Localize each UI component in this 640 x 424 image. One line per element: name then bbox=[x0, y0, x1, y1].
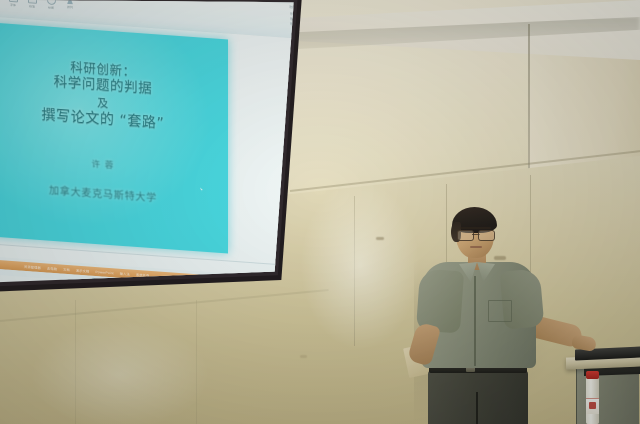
slide-title: 科研创新： 科学问题的判据 及 撰写论文的 “套路” bbox=[0, 52, 228, 138]
presenter bbox=[404, 196, 640, 424]
slide-author: 许 蓉 bbox=[0, 150, 228, 180]
taskbar-item[interactable]: 文档 bbox=[63, 267, 70, 272]
glasses-lens-left bbox=[457, 230, 474, 241]
panel-seam bbox=[75, 300, 76, 424]
trouser-leg-split bbox=[476, 392, 478, 424]
taskbar-item[interactable]: PowerPoint bbox=[95, 269, 113, 274]
panel-seam bbox=[354, 196, 355, 346]
paragraph-icon bbox=[28, 0, 37, 4]
slide-affiliation: 加拿大麦克马斯特大学 bbox=[0, 177, 228, 210]
ribbon-group-label: 字体 bbox=[10, 3, 16, 7]
screen-surface: 文件 开始 插入 设计 切换 动画 幻灯片放映 审阅 视图 粘贴 bbox=[0, 0, 302, 292]
wall-scuff bbox=[300, 355, 307, 358]
lecture-photo-scene: 文件 开始 插入 设计 切换 动画 幻灯片放映 审阅 视图 粘贴 bbox=[0, 0, 640, 424]
ribbon-group[interactable]: 排列 bbox=[64, 0, 76, 10]
glasses-icon bbox=[457, 230, 495, 239]
presenter-right-hand bbox=[571, 334, 597, 352]
panel-seam bbox=[196, 300, 197, 424]
wall-scuff bbox=[376, 237, 384, 240]
slide[interactable]: 科研创新： 科学问题的判据 及 撰写论文的 “套路” 许 蓉 加拿大麦克马斯特大… bbox=[0, 22, 228, 254]
projection-screen[interactable]: 文件 开始 插入 设计 切换 动画 幻灯片放映 审阅 视图 粘贴 bbox=[0, 0, 302, 292]
taskbar-item[interactable]: 演示文稿 bbox=[76, 268, 90, 274]
taskbar-item[interactable]: 输入法 bbox=[120, 271, 130, 277]
presenter-trousers bbox=[428, 370, 528, 424]
shirt-placket bbox=[474, 276, 476, 366]
shapes-icon bbox=[47, 0, 56, 5]
ribbon-group-label: 绘图 bbox=[48, 6, 54, 10]
tray-icon[interactable] bbox=[180, 284, 183, 287]
slide-canvas-area: 科研创新： 科学问题的判据 及 撰写论文的 “套路” 许 蓉 加拿大麦克马斯特大… bbox=[0, 16, 302, 267]
mouse-cursor-icon bbox=[200, 187, 203, 191]
ribbon-group[interactable]: 段落 bbox=[26, 0, 38, 9]
taskbar-item[interactable]: 资源管理器 bbox=[24, 264, 41, 270]
arrange-icon bbox=[67, 0, 73, 4]
ribbon-group[interactable]: 字体 bbox=[7, 0, 19, 8]
powerpoint-window: 文件 开始 插入 设计 切换 动画 幻灯片放映 审阅 视图 粘贴 bbox=[0, 0, 302, 292]
ribbon-group-label: 排列 bbox=[67, 5, 73, 9]
presenter-mouth bbox=[470, 246, 482, 248]
glasses-lens-right bbox=[478, 230, 495, 241]
taskbar-item[interactable]: 此电脑 bbox=[47, 266, 57, 272]
ribbon-group-label: 段落 bbox=[29, 4, 35, 8]
shirt-pocket bbox=[488, 300, 512, 322]
presenter-brow bbox=[460, 227, 491, 229]
ribbon-group[interactable]: 绘图 bbox=[45, 0, 57, 10]
